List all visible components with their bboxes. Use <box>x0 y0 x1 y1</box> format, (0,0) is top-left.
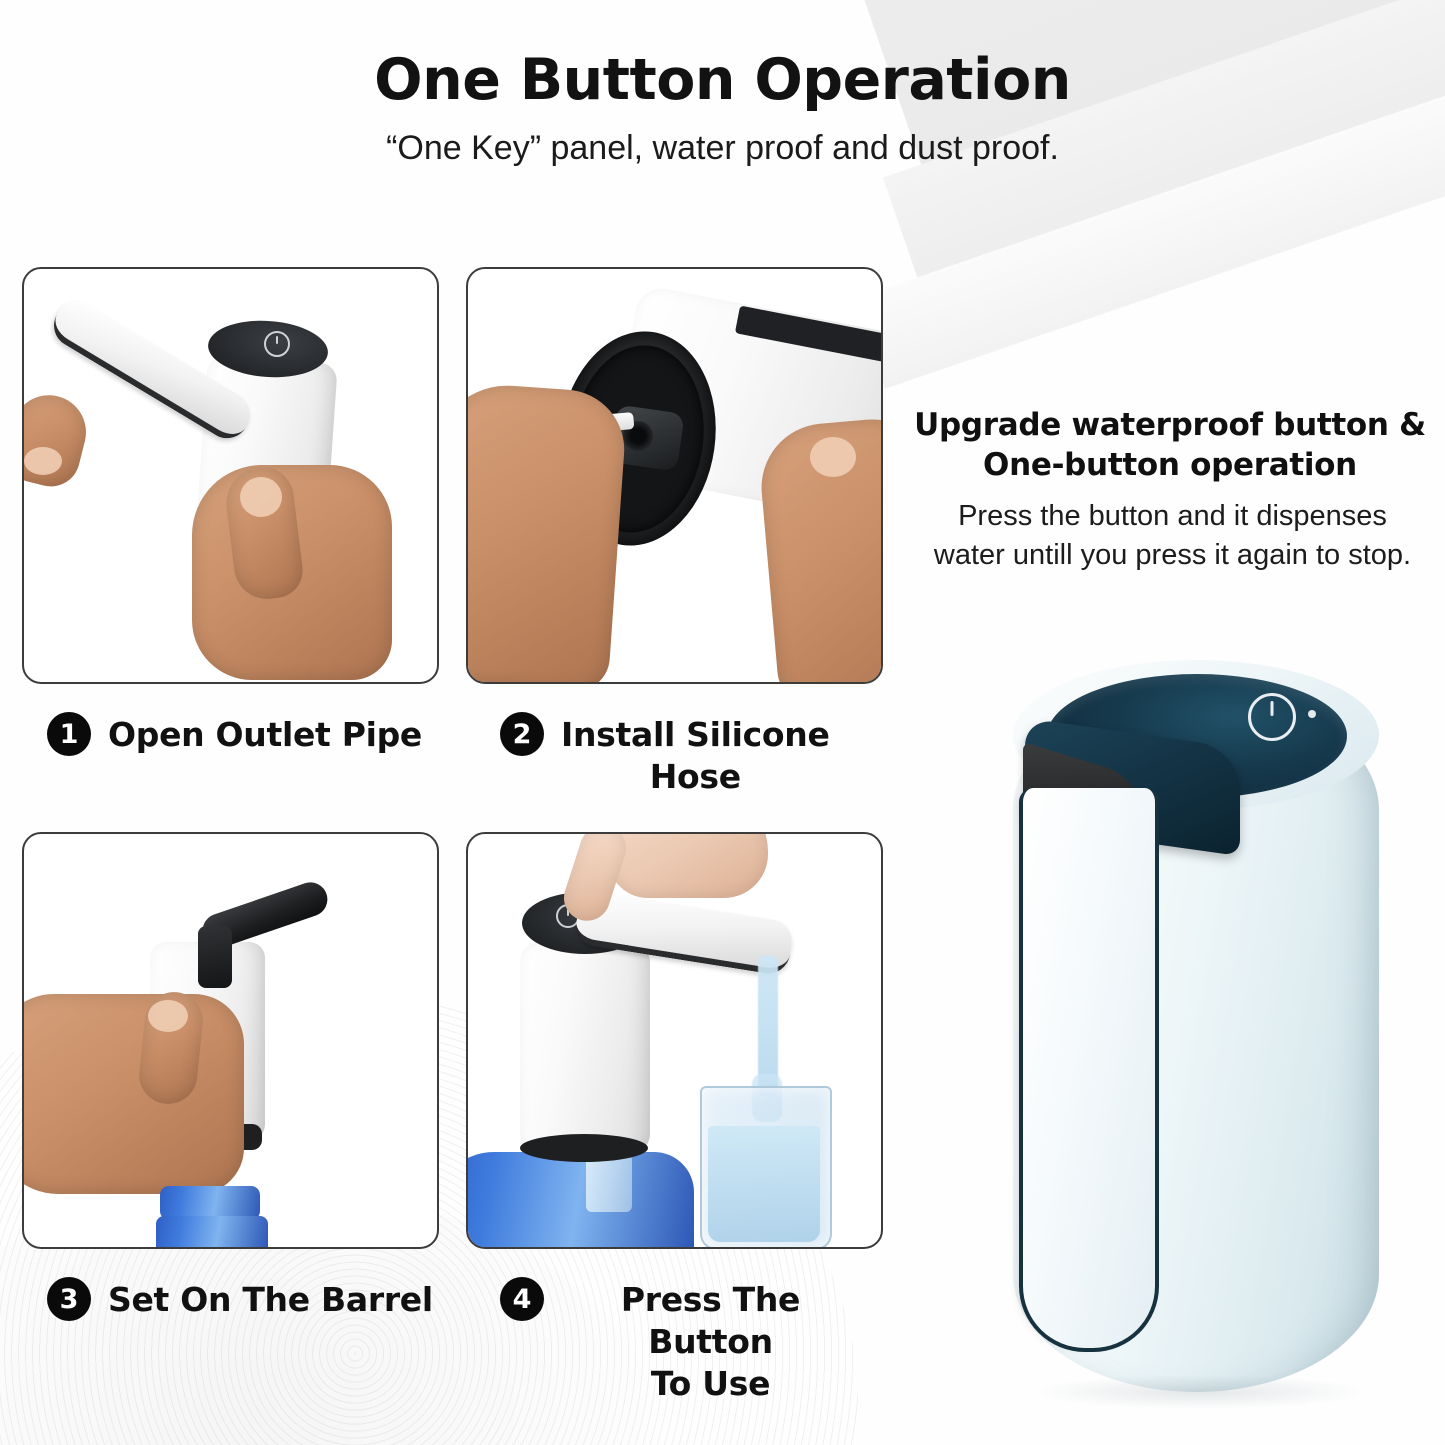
step-photo-open-outlet-pipe <box>22 267 439 684</box>
hero-drop-shadow <box>1035 1375 1365 1409</box>
step-number-badge: 2 <box>500 712 544 756</box>
step-caption-1: 1 Open Outlet Pipe <box>47 712 422 756</box>
spout-hinge <box>198 926 232 988</box>
step-caption-2: 2 Install Silicone Hose <box>500 712 860 798</box>
page-subtitle: “One Key” panel, water proof and dust pr… <box>0 129 1445 168</box>
step-number-badge: 3 <box>47 1277 91 1321</box>
thumbnail <box>148 1000 188 1032</box>
right-thumbnail <box>810 437 856 477</box>
page-title: One Button Operation <box>0 47 1445 113</box>
photo-scene-1 <box>24 269 437 682</box>
led-indicator-icon <box>1308 710 1316 718</box>
index-finger <box>22 387 94 492</box>
step-number-badge: 4 <box>500 1277 544 1321</box>
step-caption-4: 4 Press The Button To Use <box>500 1277 860 1406</box>
step-label: Press The Button To Use <box>561 1277 860 1406</box>
hero-product-image <box>995 640 1395 1400</box>
water-bottle <box>466 1152 694 1249</box>
power-icon <box>264 331 290 357</box>
photo-scene-4 <box>468 834 881 1247</box>
feature-description: Press the button and it dispenses water … <box>920 497 1425 574</box>
step-photo-install-silicone-hose <box>466 267 883 684</box>
bottle-neck <box>586 1154 632 1212</box>
step-photo-set-on-the-barrel <box>22 832 439 1249</box>
photo-scene-3 <box>24 834 437 1247</box>
thumbnail <box>240 477 282 517</box>
water-bottle-neck <box>160 1186 260 1220</box>
step-number-badge: 1 <box>47 712 91 756</box>
hand <box>22 994 244 1194</box>
feature-heading: Upgrade waterproof button & One-button o… <box>905 405 1435 486</box>
step-label: Open Outlet Pipe <box>108 712 422 756</box>
dispenser-base <box>520 1134 648 1162</box>
power-icon <box>1248 693 1296 741</box>
step-label: Set On The Barrel <box>108 1277 433 1321</box>
glass-water <box>708 1126 820 1242</box>
hero-spout-folded-panel <box>1019 788 1159 1352</box>
step-caption-3: 3 Set On The Barrel <box>47 1277 433 1321</box>
index-fingernail <box>24 447 62 475</box>
water-bottle-body <box>156 1216 268 1249</box>
step-label: Install Silicone Hose <box>561 712 830 798</box>
infographic-canvas: One Button Operation “One Key” panel, wa… <box>0 0 1445 1445</box>
hand <box>608 832 768 898</box>
step-photo-press-the-button <box>466 832 883 1249</box>
photo-scene-2 <box>468 269 881 682</box>
dispenser-body <box>520 942 650 1154</box>
left-hand <box>466 381 628 684</box>
